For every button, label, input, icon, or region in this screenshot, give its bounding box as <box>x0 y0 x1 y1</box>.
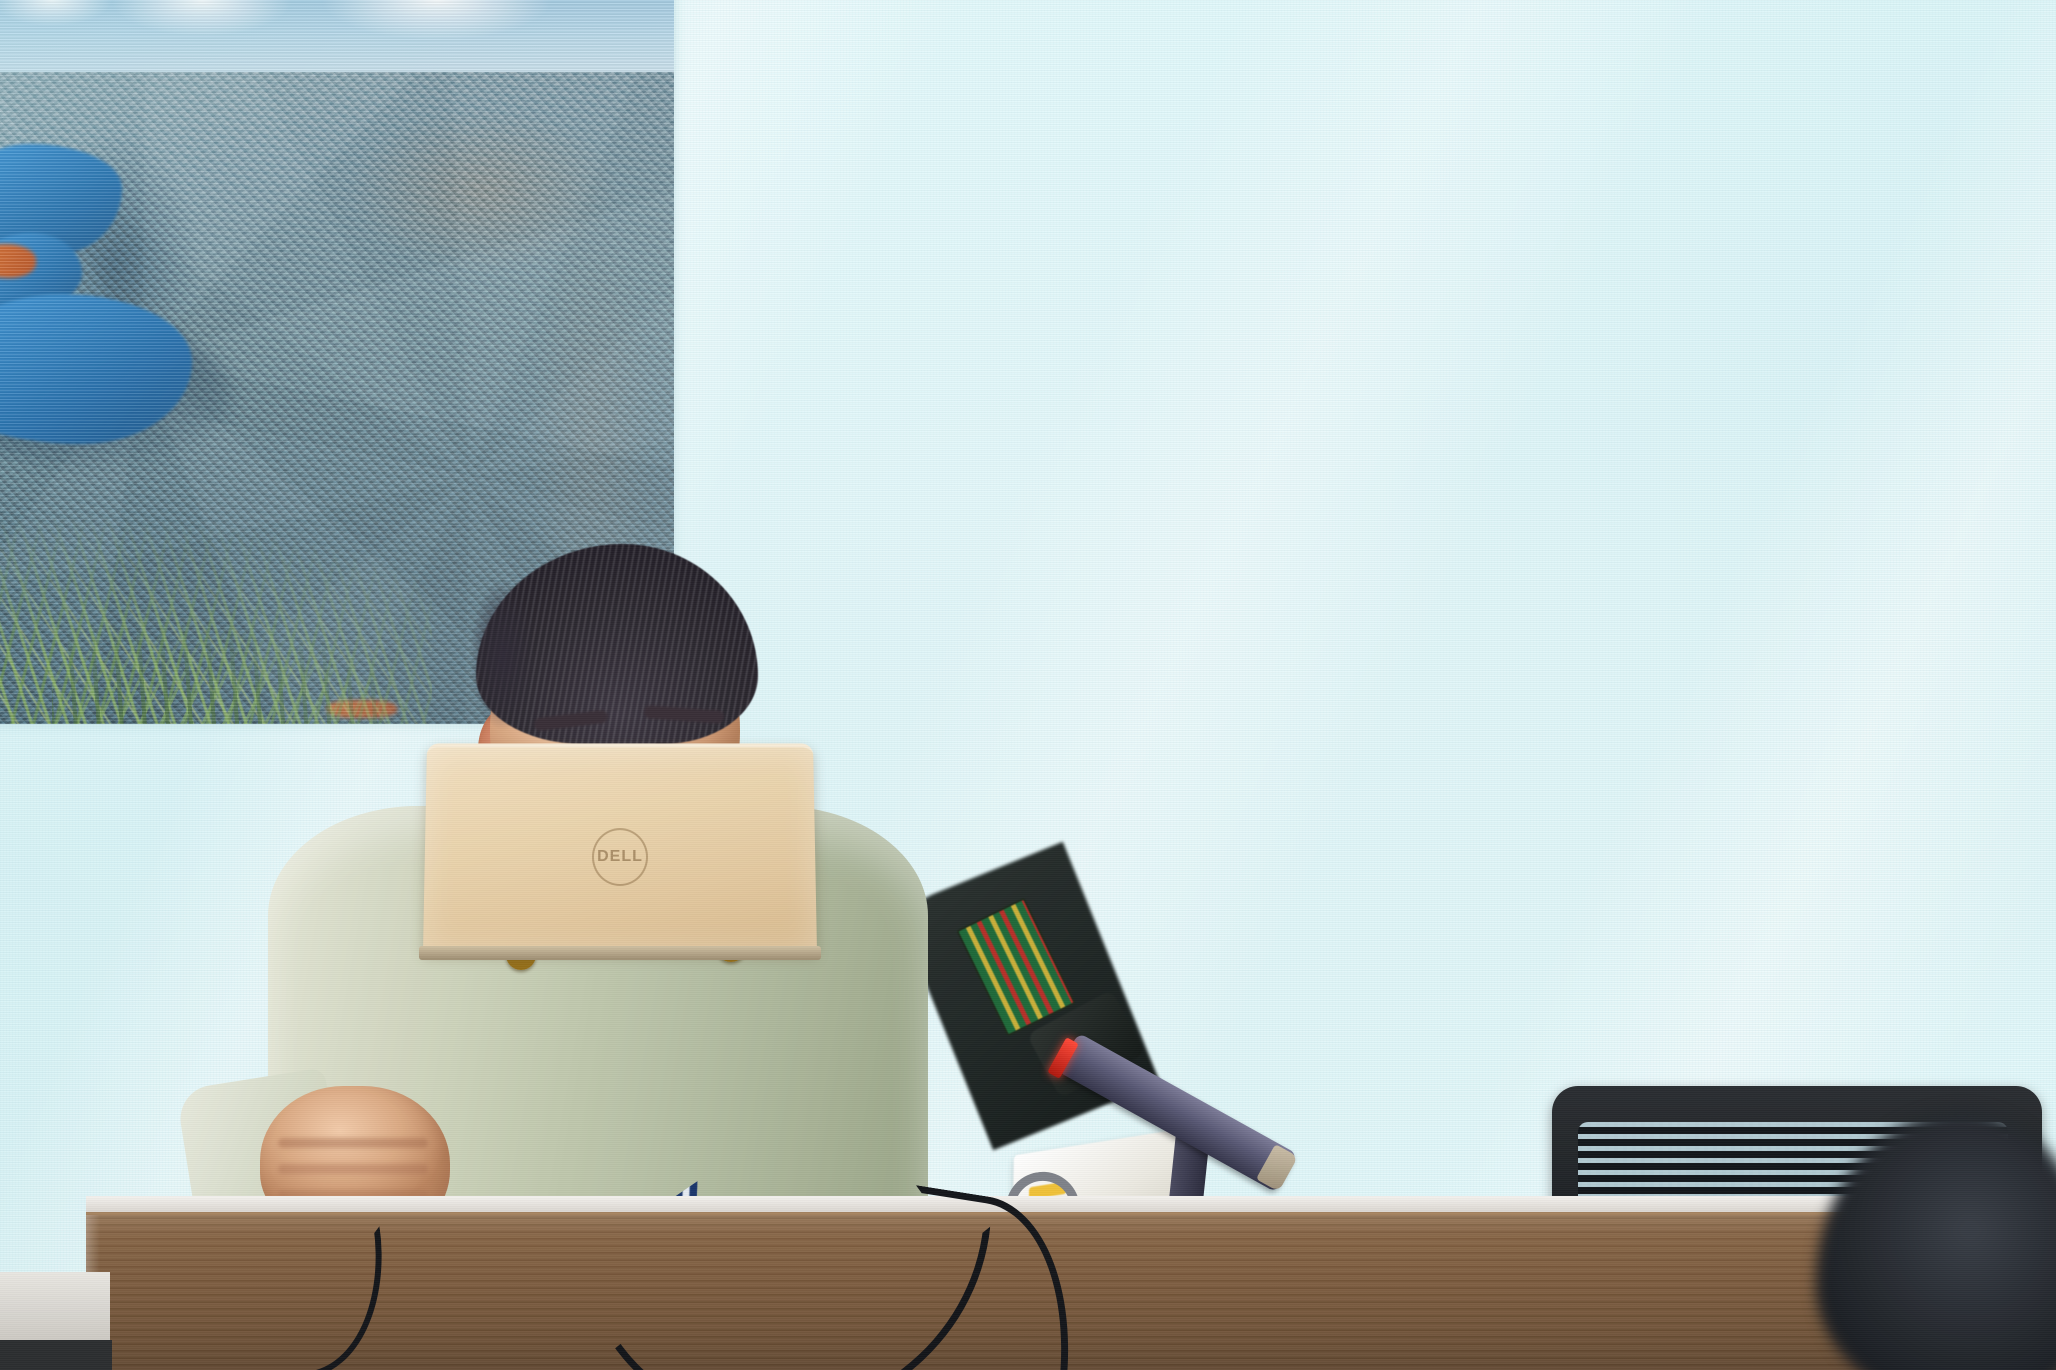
laptop-hinge <box>419 946 821 960</box>
podium-left-base <box>0 1340 112 1370</box>
wooden-podium <box>86 1212 2056 1370</box>
screenshot-root: DELL <box>0 0 2056 1370</box>
dell-logo: DELL <box>592 828 648 886</box>
laptop-lid: DELL <box>423 743 817 952</box>
dell-laptop[interactable]: DELL <box>425 742 815 952</box>
